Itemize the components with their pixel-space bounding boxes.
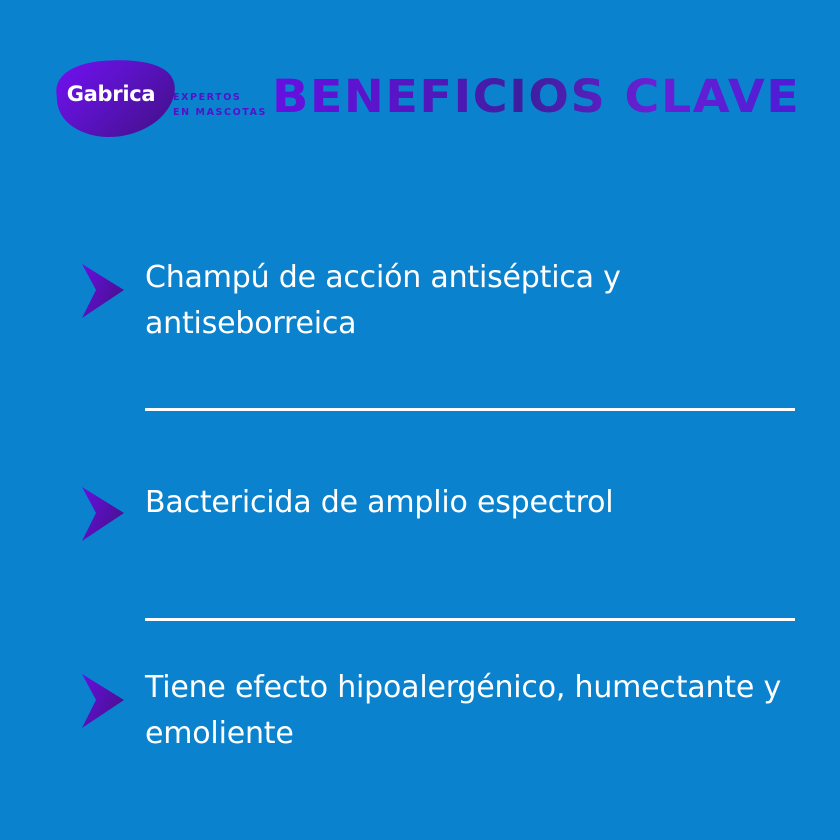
poster-canvas: Gabrica EXPERTOS EN MASCOTAS BENEFICIOS … <box>0 0 840 840</box>
chevron-right-icon <box>80 263 126 319</box>
brand-wordmark: Gabrica <box>61 84 161 105</box>
header: Gabrica EXPERTOS EN MASCOTAS BENEFICIOS … <box>0 0 840 160</box>
benefit-divider <box>145 618 795 621</box>
benefit-text: Champú de acción antiséptica y antisebor… <box>145 255 800 347</box>
brand-tagline: EXPERTOS EN MASCOTAS <box>173 90 267 120</box>
benefit-text: Bactericida de amplio espectrol <box>145 480 800 526</box>
benefit-item: Tiene efecto hipoalergénico, humectante … <box>0 665 840 785</box>
brand-tagline-line-2: EN MASCOTAS <box>173 105 267 120</box>
benefit-item: Champú de acción antiséptica y antisebor… <box>0 255 840 375</box>
brand-logo-lockup: Gabrica EXPERTOS EN MASCOTAS <box>44 58 264 144</box>
chevron-right-icon <box>80 673 126 729</box>
chevron-right-icon <box>80 486 126 542</box>
benefit-divider <box>145 408 795 411</box>
benefit-text: Tiene efecto hipoalergénico, humectante … <box>145 665 800 757</box>
brand-tagline-line-1: EXPERTOS <box>173 90 267 105</box>
page-title: BENEFICIOS CLAVE <box>272 68 800 124</box>
benefit-item: Bactericida de amplio espectrol <box>0 480 840 550</box>
benefits-list: Champú de acción antiséptica y antisebor… <box>0 160 840 840</box>
